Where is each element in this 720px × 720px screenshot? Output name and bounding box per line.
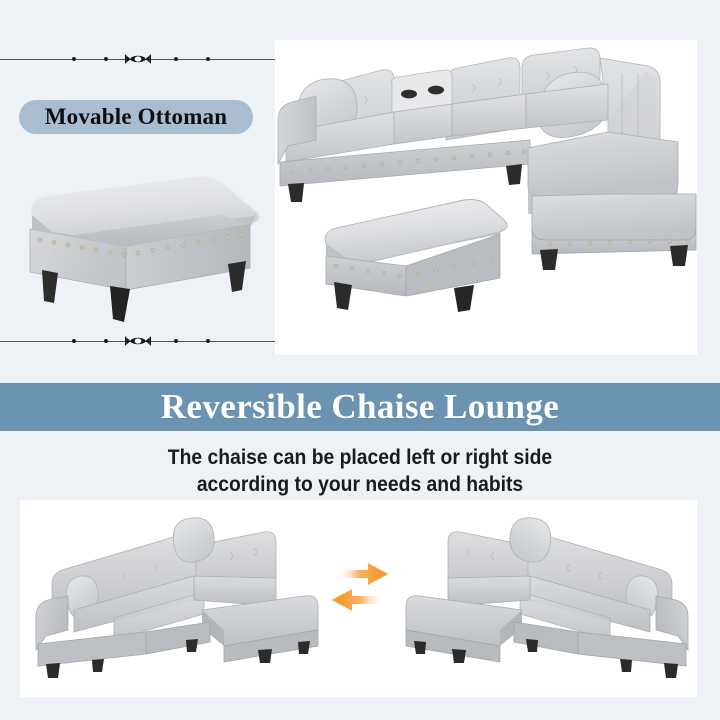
sofa-leg (506, 164, 522, 185)
sofa-leg (298, 641, 310, 654)
arrow-left-icon (332, 589, 384, 611)
swap-arrows (328, 562, 392, 618)
chaise-seat (528, 132, 678, 196)
sofa-leg (258, 649, 272, 663)
sofa-leg (414, 641, 426, 654)
section-banner: Reversible Chaise Lounge (0, 383, 720, 431)
divider-ornament-icon (125, 54, 151, 65)
divider-ornament-icon (125, 336, 151, 347)
divider-dot (174, 57, 178, 61)
cup-holder (401, 90, 417, 99)
sofa-leg (92, 659, 104, 672)
banner-title: Reversible Chaise Lounge (161, 387, 559, 427)
divider-dot (104, 339, 108, 343)
divider-dot (72, 57, 76, 61)
throw-pillow (173, 518, 214, 562)
ottoman-leg (228, 261, 246, 292)
divider-dot (72, 339, 76, 343)
banner-subtitle: The chaise can be placed left or right s… (29, 444, 691, 498)
divider-dot (206, 339, 210, 343)
sofa-leg (526, 639, 538, 652)
ottoman-leg (454, 285, 474, 312)
throw-pillow (510, 518, 551, 562)
divider-dot (206, 57, 210, 61)
ottoman-leg (334, 282, 352, 310)
subtitle-line-1: The chaise can be placed left or right s… (29, 444, 691, 471)
movable-ottoman-badge: Movable Ottoman (19, 100, 253, 134)
sofa-leg (670, 245, 688, 266)
arrow-right-icon (336, 563, 388, 585)
sofa-leg (46, 663, 60, 678)
sofa-leg (452, 649, 466, 663)
ottoman-leg (42, 270, 58, 303)
sectional-photo (278, 44, 696, 346)
ottoman-photo (14, 172, 270, 328)
divider-dot (104, 57, 108, 61)
sofa-leg (186, 639, 198, 652)
ornamental-divider-top (0, 52, 276, 66)
divider-dot (174, 339, 178, 343)
right-configuration-photo (390, 514, 690, 686)
subtitle-line-2: according to your needs and habits (29, 471, 691, 498)
sofa-leg (620, 659, 632, 672)
cup-holder (428, 86, 444, 95)
sofa-leg (288, 183, 304, 202)
badge-label: Movable Ottoman (45, 104, 228, 130)
poster-canvas: Movable Ottoman (0, 0, 720, 720)
ottoman-leg (110, 286, 130, 322)
sofa-leg (540, 249, 558, 270)
sofa-leg (664, 663, 678, 678)
left-configuration-photo (34, 514, 334, 686)
ornamental-divider-bottom (0, 334, 276, 348)
